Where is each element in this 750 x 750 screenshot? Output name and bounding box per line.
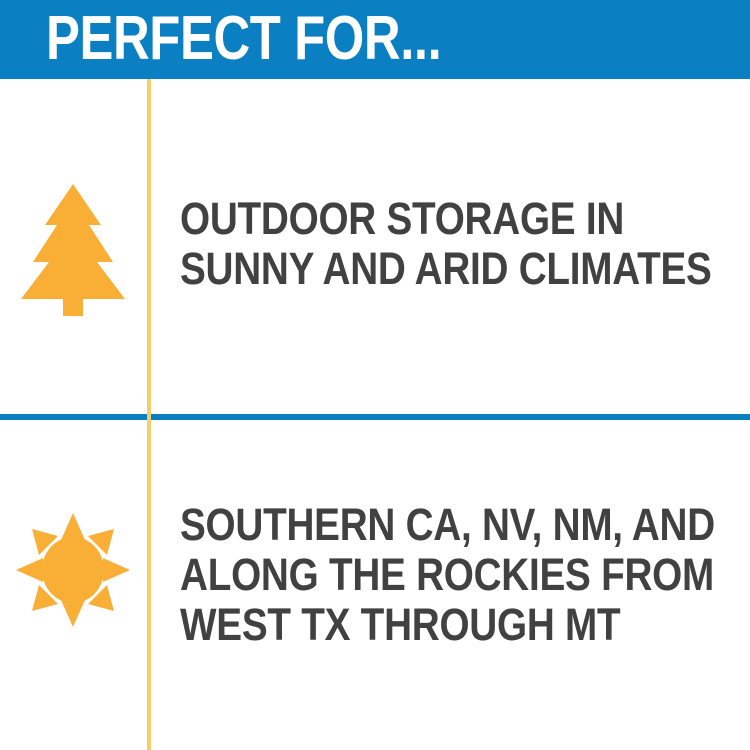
feature-row-regions: SOUTHERN CA, NV, NM, AND ALONG THE ROCKI… xyxy=(0,420,750,750)
feature-text-line: SOUTHERN CA, NV, NM, AND xyxy=(180,500,715,550)
icon-cell-row-1 xyxy=(0,79,147,414)
feature-text-line: WEST TX THROUGH MT xyxy=(180,600,715,650)
perfect-for-infographic: PERFECT FOR... OUTDOOR STORAGE IN SUNNY … xyxy=(0,0,750,750)
column-divider-vertical xyxy=(147,79,151,750)
sun-icon xyxy=(16,513,130,627)
feature-text-line: OUTDOOR STORAGE IN xyxy=(180,194,712,244)
header-bar: PERFECT FOR... xyxy=(0,0,750,79)
text-cell-row-1: OUTDOOR STORAGE IN SUNNY AND ARID CLIMAT… xyxy=(151,79,750,414)
pine-tree-icon xyxy=(21,184,125,316)
icon-cell-row-2 xyxy=(0,420,147,750)
feature-text-line: ALONG THE ROCKIES FROM xyxy=(180,550,715,600)
section-divider-horizontal xyxy=(0,414,750,420)
text-cell-row-2: SOUTHERN CA, NV, NM, AND ALONG THE ROCKI… xyxy=(151,420,750,750)
feature-text-row-1: OUTDOOR STORAGE IN SUNNY AND ARID CLIMAT… xyxy=(180,194,712,294)
feature-row-outdoor-storage: OUTDOOR STORAGE IN SUNNY AND ARID CLIMAT… xyxy=(0,79,750,414)
feature-text-row-2: SOUTHERN CA, NV, NM, AND ALONG THE ROCKI… xyxy=(180,500,715,650)
feature-text-line: SUNNY AND ARID CLIMATES xyxy=(180,244,712,294)
page-title: PERFECT FOR... xyxy=(46,6,441,72)
